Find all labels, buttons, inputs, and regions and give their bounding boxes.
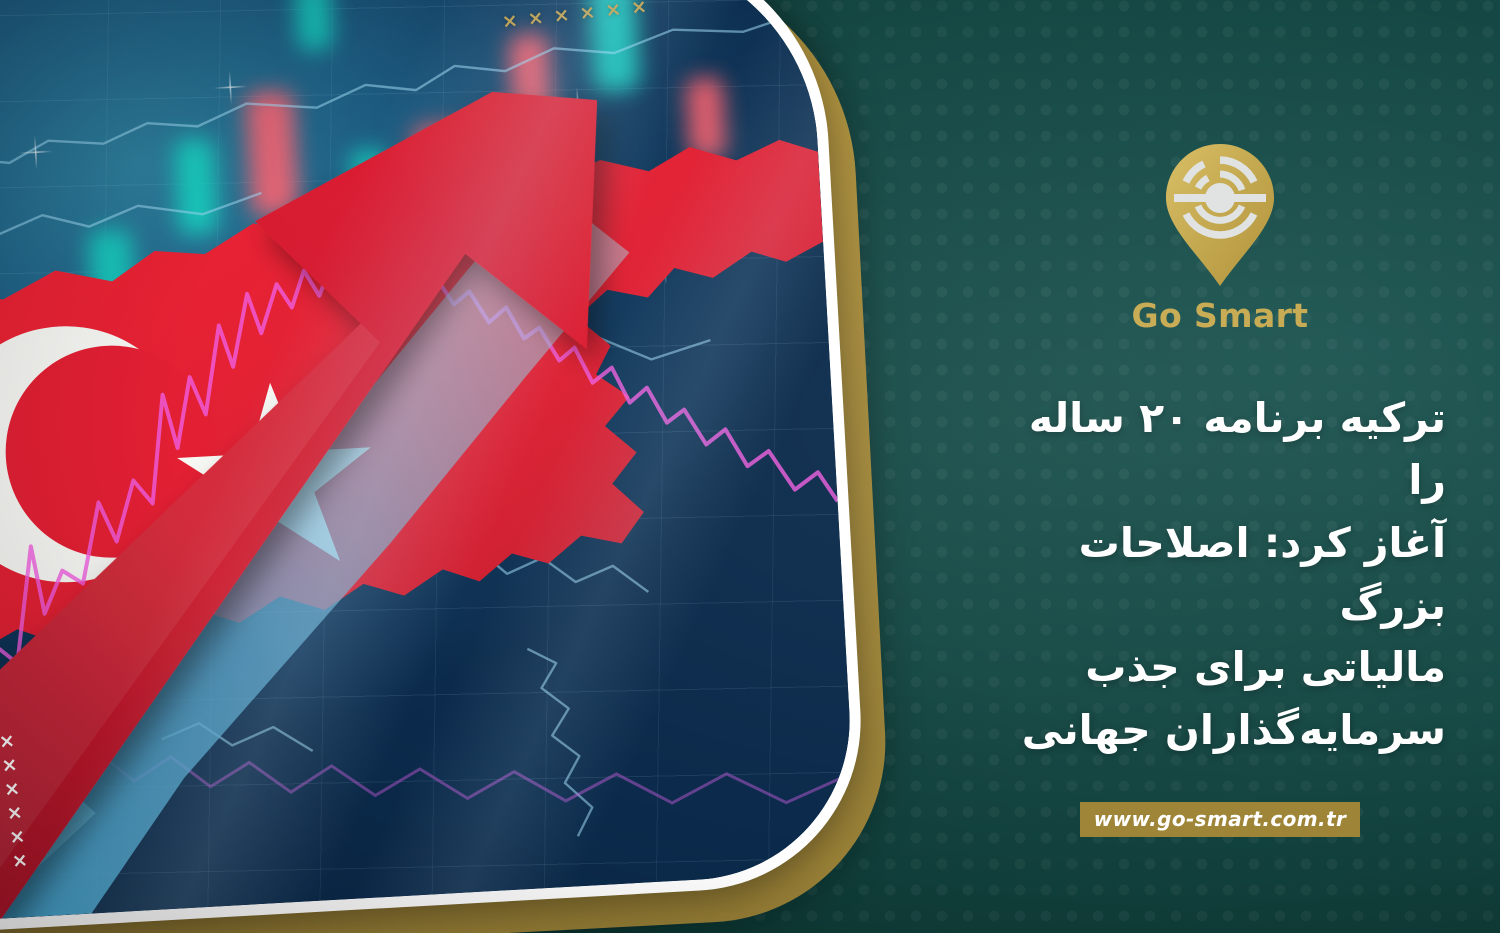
hero-photo: × × × × × × × × × × × × × × × × [0,0,858,922]
location-pin-icon [1164,142,1276,288]
poster-canvas: × × × × × × × × × × × × × × × × [0,0,1500,933]
headline-line: مالیاتی برای جذب [994,636,1446,698]
headline-line: سرمایه‌گذاران جهانی [994,699,1446,761]
headline-line: آغاز کرد: اصلاحات بزرگ [994,512,1446,637]
website-url[interactable]: www.go-smart.com.tr [1080,802,1360,837]
page-title: ترکیه برنامه ۲۰ ساله را آغاز کرد: اصلاحا… [994,387,1446,761]
photo-light-sheen [0,0,858,922]
footer-url-wrap: www.go-smart.com.tr [1080,802,1360,837]
brand-block: Go Smart [1132,142,1309,335]
content-column: Go Smart ترکیه برنامه ۲۰ ساله را آغاز کر… [940,0,1500,933]
photo-card: × × × × × × × × × × × × × × × × [0,0,858,922]
brand-name: Go Smart [1132,296,1309,335]
headline-line: ترکیه برنامه ۲۰ ساله را [994,387,1446,512]
photo-card-frame: × × × × × × × × × × × × × × × × [0,0,870,933]
